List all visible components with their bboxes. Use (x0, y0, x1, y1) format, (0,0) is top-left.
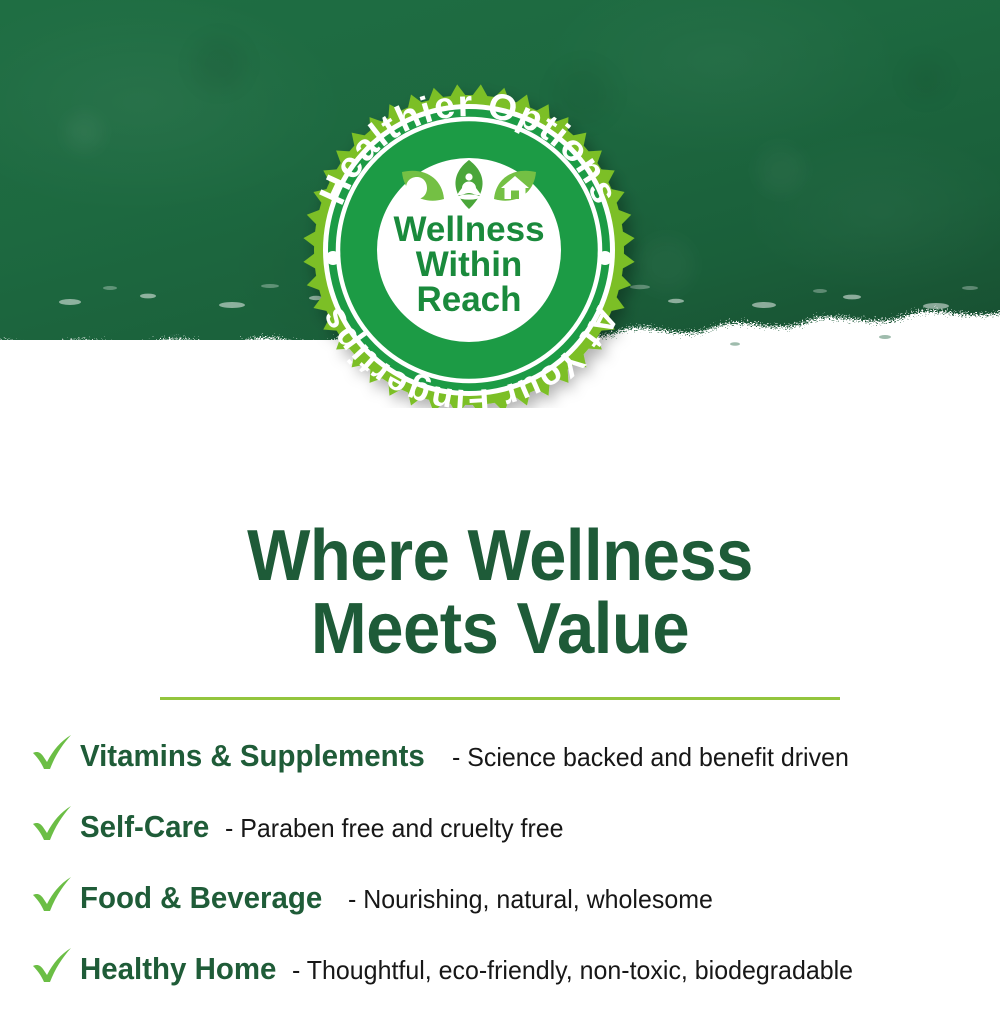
benefit-label: Food & Beverage (80, 880, 322, 916)
benefits-list: Vitamins & Supplements - Science backed … (0, 726, 1000, 987)
list-item: Healthy Home - Thoughtful, eco-friendly,… (30, 939, 986, 987)
check-icon (30, 874, 74, 914)
check-icon (30, 732, 74, 772)
check-icon (30, 945, 74, 985)
badge-center-line2: Within (416, 245, 523, 284)
list-item: Vitamins & Supplements - Science backed … (30, 726, 986, 774)
wellness-badge: Healthier Options At Your Fingertips Wel… (297, 78, 703, 408)
list-item: Self-Care - Paraben free and cruelty fre… (30, 797, 986, 845)
badge-center-line3: Reach (416, 280, 521, 319)
badge-center-line1: Wellness (393, 210, 544, 249)
heading-line-2: Meets Value (35, 593, 965, 666)
benefit-label: Healthy Home (80, 951, 276, 987)
benefit-description: - Paraben free and cruelty free (225, 813, 564, 844)
heading-line-1: Where Wellness (247, 516, 753, 596)
main-content: Where Wellness Meets Value Vitamins & Su… (0, 408, 1000, 1010)
benefit-description: - Thoughtful, eco-friendly, non-toxic, b… (292, 955, 853, 986)
benefit-description: - Science backed and benefit driven (452, 742, 849, 773)
benefit-label: Vitamins & Supplements (80, 738, 425, 774)
check-icon (30, 803, 74, 843)
benefit-label: Self-Care (80, 809, 209, 845)
badge-dot-separator-right (598, 251, 612, 265)
list-item: Food & Beverage - Nourishing, natural, w… (30, 868, 986, 916)
badge-dot-separator-left (326, 251, 340, 265)
page-title: Where Wellness Meets Value (35, 520, 965, 667)
benefit-description: - Nourishing, natural, wholesome (348, 884, 713, 915)
divider-rule (160, 697, 840, 700)
